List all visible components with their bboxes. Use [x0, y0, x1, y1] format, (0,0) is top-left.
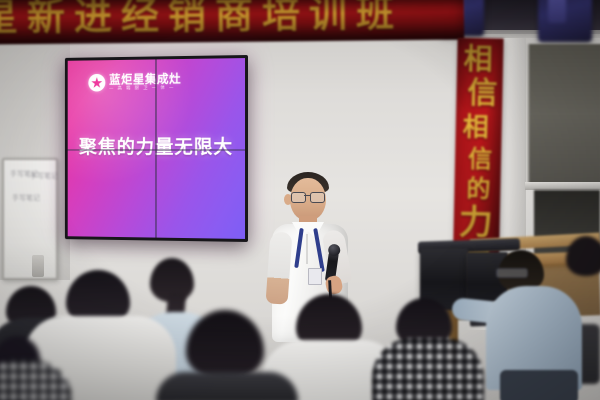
- attendee-legs: [500, 370, 578, 400]
- panel-seam-horizontal: [68, 149, 245, 151]
- hanging-pennant-icon: [538, 0, 592, 42]
- attendee-head: [566, 236, 600, 276]
- brand-name: 蓝炬星集成灶: [109, 73, 181, 86]
- window-blind: [527, 44, 600, 184]
- glasses-lens: [291, 192, 306, 203]
- brand-tagline: — 高 端 厨 卫 一 体 —: [109, 87, 181, 92]
- whiteboard-note: 手写笔记: [30, 172, 58, 181]
- attendee-torso: [156, 372, 298, 400]
- event-banner-text: 星新进经销商培训班: [0, 0, 403, 41]
- video-wall-display: 蓝炬星集成灶 — 高 端 厨 卫 一 体 — 聚焦的力量无限大: [65, 55, 248, 242]
- brand-logo: 蓝炬星集成灶 — 高 端 厨 卫 一 体 —: [88, 73, 181, 92]
- seminar-photo-scene: 星新进经销商培训班 相 信 相 信 的 力 量 手写笔记 手写笔记 手写笔记: [0, 0, 600, 400]
- presentation-slide: 蓝炬星集成灶 — 高 端 厨 卫 一 体 — 聚焦的力量无限大: [68, 58, 245, 239]
- id-badge: [308, 268, 322, 285]
- whiteboard: 手写笔记 手写笔记 手写笔记: [2, 158, 58, 280]
- presenter-shirt-placket: [306, 234, 308, 264]
- brand-logo-text: 蓝炬星集成灶 — 高 端 厨 卫 一 体 —: [109, 73, 181, 92]
- glasses-icon: [291, 192, 325, 201]
- whiteboard-marker-tray: [32, 255, 44, 277]
- star-logo-icon: [88, 74, 105, 92]
- window-blind-rail: [525, 182, 600, 190]
- event-banner-horizontal: 星新进经销商培训班: [0, 0, 464, 44]
- glasses-lens: [310, 192, 325, 203]
- whiteboard-note: 手写笔记: [12, 194, 40, 203]
- attendee-torso: [372, 338, 484, 400]
- glasses-icon: [496, 268, 528, 278]
